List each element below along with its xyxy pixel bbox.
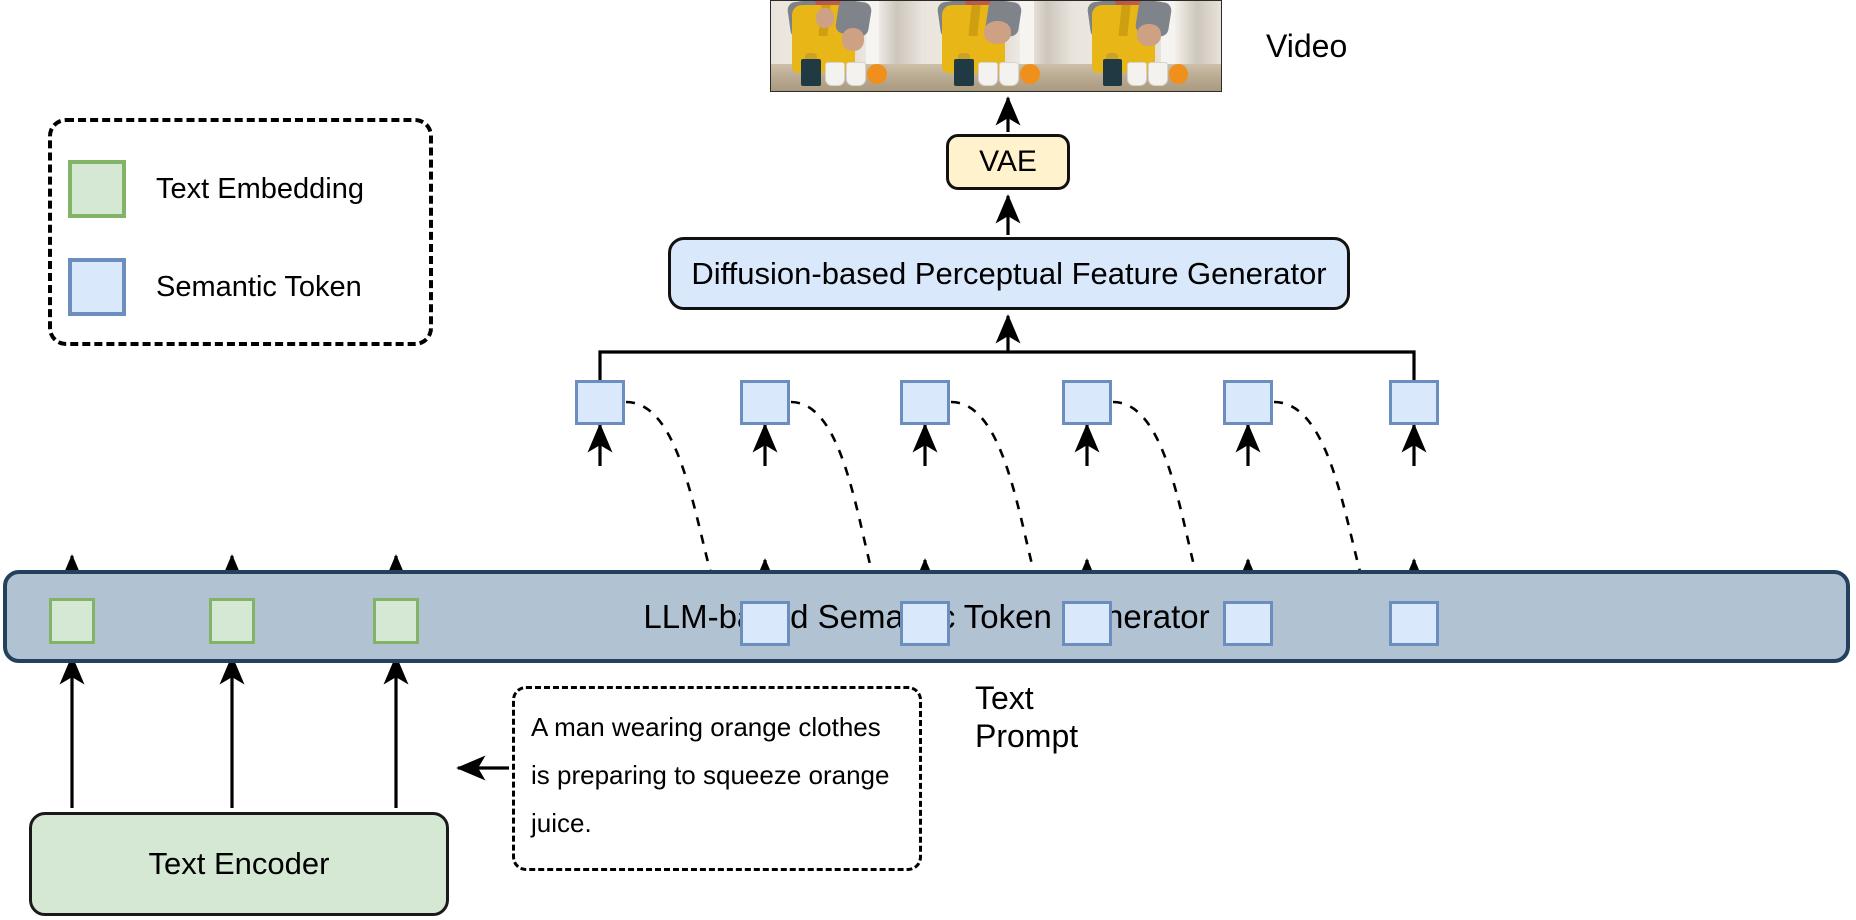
semantic-token-top-6[interactable] (1389, 380, 1439, 425)
text-prompt-box[interactable]: A man wearing orange clothes is preparin… (512, 686, 922, 871)
semantic-token-top-1[interactable] (575, 380, 625, 425)
legend-swatch-semantic-token (68, 258, 126, 316)
frame-jar (954, 59, 974, 86)
semantic-token-top-5[interactable] (1223, 380, 1273, 425)
frame-hand-b (842, 28, 865, 51)
legend-label-semantic-token: Semantic Token (156, 273, 362, 302)
text-embedding-3[interactable] (373, 598, 419, 644)
text-prompt-label: Text Prompt (975, 680, 1078, 756)
semantic-token-bottom-5[interactable] (1389, 601, 1439, 646)
frame-orange (1169, 64, 1189, 84)
legend-swatch-text-embedding (68, 160, 126, 218)
block-vae[interactable]: VAE (946, 134, 1070, 190)
legend-label-text-embedding: Text Embedding (156, 175, 364, 204)
frame-hand-a (1137, 24, 1161, 46)
legend-item-semantic-token: Semantic Token (68, 258, 362, 316)
block-text-encoder[interactable]: Text Encoder (29, 812, 449, 916)
frame-cup-a (1127, 62, 1147, 86)
text-embedding-1[interactable] (49, 598, 95, 644)
frame-cup-b (1148, 62, 1168, 86)
frame-door (1020, 1, 1034, 69)
legend-item-text-embedding: Text Embedding (68, 160, 364, 218)
semantic-token-top-3[interactable] (900, 380, 950, 425)
semantic-token-bottom-1[interactable] (740, 601, 790, 646)
frame-hands-together (984, 21, 1011, 44)
video-frame-2 (921, 1, 1071, 91)
frame-cup-b (846, 62, 866, 86)
frame-jar-lid (805, 53, 817, 59)
frame-jar (801, 59, 821, 86)
video-frame-3 (1071, 1, 1221, 91)
frame-cup-a (825, 62, 845, 86)
semantic-token-top-2[interactable] (740, 380, 790, 425)
frame-torso-shadow (969, 5, 981, 36)
text-embedding-2[interactable] (209, 598, 255, 644)
semantic-token-bottom-4[interactable] (1223, 601, 1273, 646)
frame-hand-a (816, 8, 834, 28)
frame-cup-b (999, 62, 1019, 86)
frame-jar (1103, 59, 1123, 86)
frame-cup-a (978, 62, 998, 86)
semantic-token-top-4[interactable] (1062, 380, 1112, 425)
frame-jar-lid (1106, 53, 1118, 59)
diagram-canvas: Video Text Prompt Text Embedding Semanti… (0, 0, 1856, 920)
semantic-token-bottom-3[interactable] (1062, 601, 1112, 646)
video-label: Video (1266, 28, 1347, 66)
text-prompt-content: A man wearing orange clothes is preparin… (531, 703, 903, 847)
video-frame-1 (771, 1, 921, 91)
token-bus-line (600, 352, 1414, 380)
frame-orange (1020, 64, 1040, 84)
frame-torso-shadow (1119, 5, 1131, 36)
semantic-token-bottom-2[interactable] (900, 601, 950, 646)
video-frame-strip (770, 0, 1222, 92)
frame-jar-lid (958, 53, 970, 59)
frame-orange (867, 64, 887, 84)
block-diffusion-generator[interactable]: Diffusion-based Perceptual Feature Gener… (668, 237, 1350, 310)
